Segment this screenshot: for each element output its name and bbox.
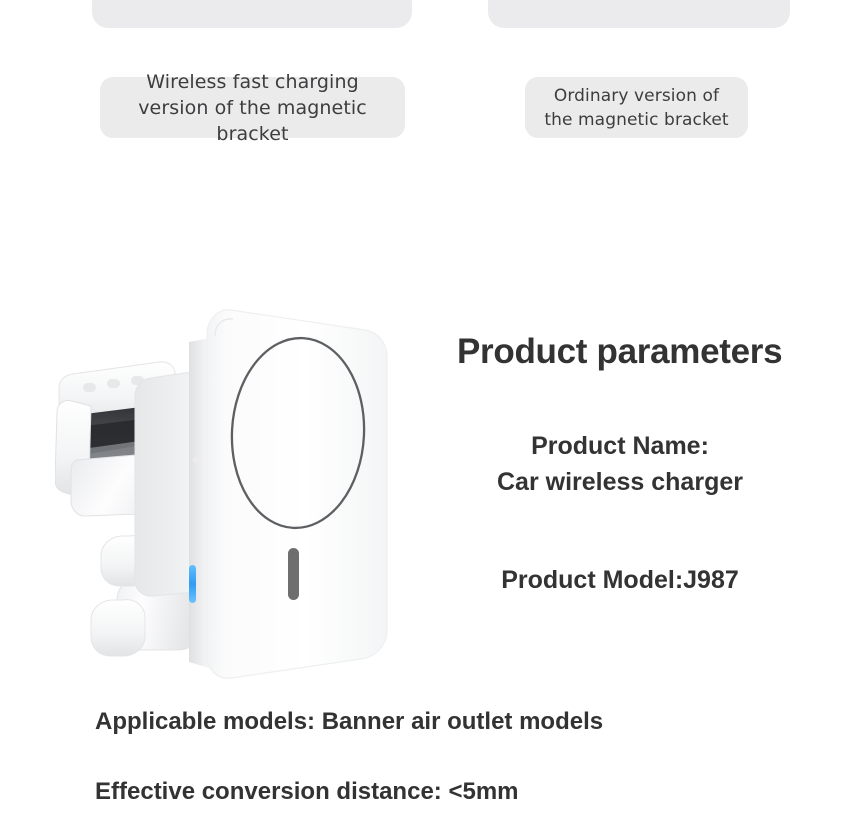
charger-side-edge — [189, 338, 209, 668]
caption-pill-wireless-fast-charging: Wireless fast charging version of the ma… — [100, 77, 405, 138]
spec-applicable-models: Applicable models: Banner air outlet mod… — [95, 706, 603, 738]
product-photo-car-wireless-charger — [55, 300, 400, 690]
product-name-block: Product Name: Car wireless charger — [440, 428, 800, 500]
caption-left-line1: Wireless fast charging — [146, 71, 359, 93]
page-title: Product parameters — [457, 330, 817, 374]
top-panel-left — [92, 0, 412, 28]
led-indicator — [189, 565, 196, 603]
backplate-dot — [193, 457, 199, 463]
top-panel-right — [488, 0, 790, 28]
product-model: Product Model:J987 — [440, 563, 800, 597]
caption-right-line2: the magnetic bracket — [544, 110, 728, 130]
caption-pill-ordinary-version: Ordinary version of the magnetic bracket — [525, 77, 748, 138]
product-name-label: Product Name: — [440, 428, 800, 464]
product-name-value: Car wireless charger — [440, 464, 800, 500]
caption-left-line2: version of the magnetic bracket — [138, 97, 367, 145]
caption-right-line1: Ordinary version of — [554, 86, 719, 106]
product-illustration — [55, 300, 400, 690]
charger-function-button[interactable] — [288, 548, 299, 600]
spec-effective-distance: Effective conversion distance: <5mm — [95, 776, 519, 808]
